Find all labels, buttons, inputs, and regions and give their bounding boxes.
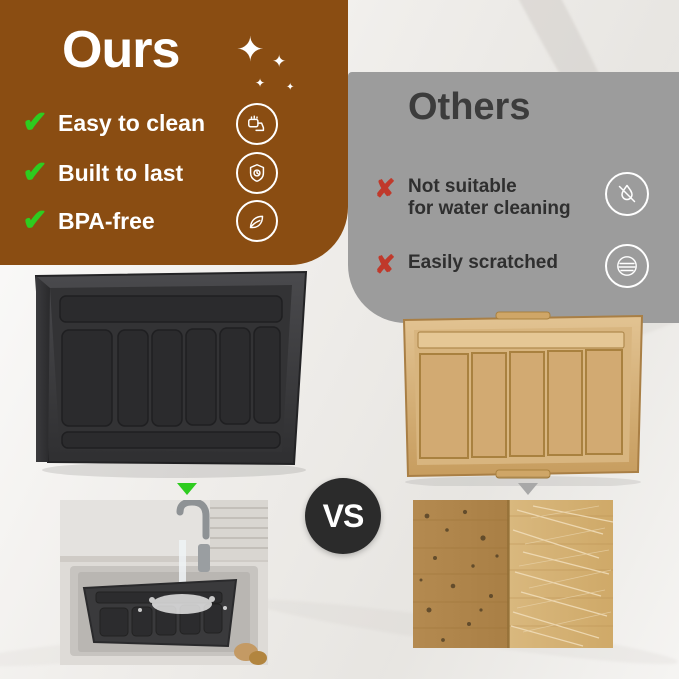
ours-feature-row-2: ✔ Built to last bbox=[20, 158, 183, 188]
scratched-stained-bamboo-surface-photo bbox=[413, 500, 613, 648]
check-icon: ✔ bbox=[20, 108, 50, 138]
leaf-icon bbox=[236, 200, 278, 242]
ours-feature-row-3: ✔ BPA-free bbox=[20, 206, 155, 236]
cross-icon: ✘ bbox=[372, 176, 398, 202]
others-feature-label-line1: Not suitable bbox=[408, 176, 571, 198]
hand-wiping-icon bbox=[236, 103, 278, 145]
check-icon: ✔ bbox=[20, 206, 50, 236]
green-down-arrow-icon bbox=[177, 483, 197, 495]
black-expandable-cutlery-tray bbox=[26, 258, 316, 480]
sparkle-icon: ✦ bbox=[236, 30, 265, 70]
others-title: Others bbox=[408, 88, 530, 126]
others-feature-label: Easily scratched bbox=[408, 252, 558, 274]
others-feature-row-2: ✘ Easily scratched bbox=[372, 252, 558, 278]
others-feature-label: Not suitable for water cleaning bbox=[408, 176, 571, 220]
comparison-infographic: Ours ✦ ✦ ✦ ✦ ✔ Easy to clean ✔ Built to … bbox=[0, 0, 679, 679]
sparkle-icon: ✦ bbox=[255, 76, 265, 90]
bamboo-cutlery-drawer-organizer bbox=[398, 306, 648, 486]
others-panel: Others ✘ Not suitable for water cleaning… bbox=[348, 72, 679, 323]
others-feature-label-line2: for water cleaning bbox=[408, 198, 571, 220]
versus-badge: VS bbox=[305, 478, 381, 554]
ours-panel: Ours ✦ ✦ ✦ ✦ ✔ Easy to clean ✔ Built to … bbox=[0, 0, 348, 265]
ours-feature-label: BPA-free bbox=[58, 208, 155, 235]
others-feature-label-line1: Easily scratched bbox=[408, 252, 558, 274]
cross-icon: ✘ bbox=[372, 252, 398, 278]
sparkle-icon: ✦ bbox=[286, 82, 294, 93]
tray-being-rinsed-in-sink-photo bbox=[60, 500, 268, 665]
gray-down-arrow-icon bbox=[518, 483, 538, 495]
no-water-icon bbox=[605, 172, 649, 216]
others-feature-row-1: ✘ Not suitable for water cleaning bbox=[372, 176, 571, 220]
scratch-lines-icon bbox=[605, 244, 649, 288]
ours-feature-label: Easy to clean bbox=[58, 110, 205, 137]
shield-clock-icon bbox=[236, 152, 278, 194]
check-icon: ✔ bbox=[20, 158, 50, 188]
ours-feature-label: Built to last bbox=[58, 160, 183, 187]
ours-feature-row-1: ✔ Easy to clean bbox=[20, 108, 205, 138]
ours-title: Ours bbox=[62, 24, 179, 76]
sparkle-icon: ✦ bbox=[272, 52, 286, 72]
